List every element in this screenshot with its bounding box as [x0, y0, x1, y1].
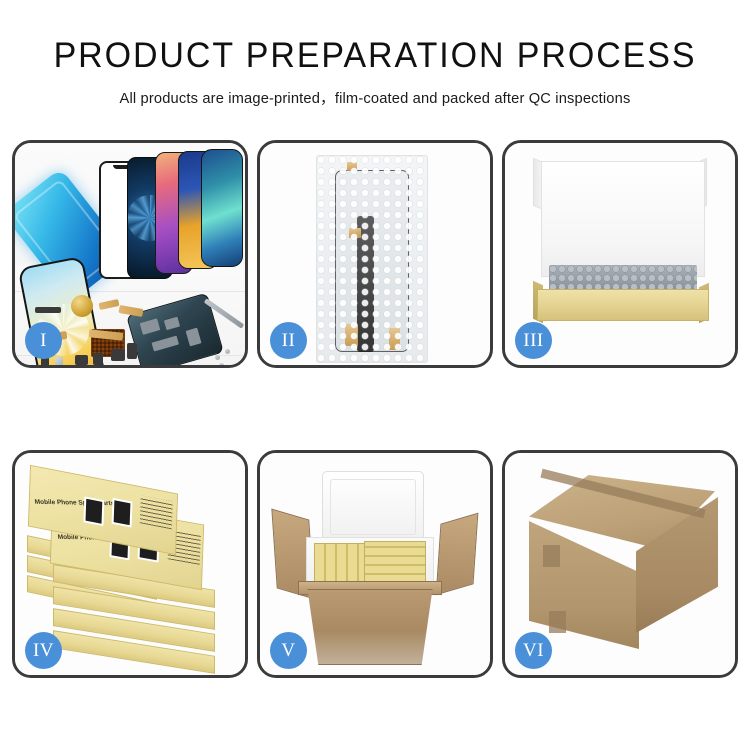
step-panel-2: II: [257, 140, 493, 368]
tape-piece: [347, 162, 357, 171]
step-badge-4: IV: [25, 632, 62, 669]
tape-piece: [349, 228, 361, 238]
box-spec-lines: [140, 495, 173, 529]
step-panel-5: V: [257, 450, 493, 678]
product-preparation-infographic: PRODUCT PREPARATION PROCESS All products…: [0, 0, 750, 750]
step-badge-5: V: [270, 632, 307, 669]
earpiece-mesh-part: [35, 307, 61, 313]
box-white-lid: [541, 161, 705, 277]
tape-piece: [389, 328, 400, 350]
board-chip: [140, 318, 161, 334]
box-kraft-base: [537, 289, 709, 321]
step-panel-1: I: [12, 140, 248, 368]
board-chip: [186, 328, 202, 347]
metal-bracket-part: [55, 357, 63, 365]
wrapped-flex-cable: [357, 216, 374, 352]
page-subtitle: All products are image-printed，film-coat…: [8, 87, 743, 108]
speaker-part: [71, 295, 93, 317]
step-panel-3: III: [502, 140, 738, 368]
carton-tape-patch: [549, 611, 566, 633]
bubble-wrap-bag: [316, 155, 428, 363]
screw-part: [219, 363, 224, 365]
step-panel-6: VI: [502, 450, 738, 678]
screw-part: [225, 349, 230, 354]
box-product-image: [83, 496, 104, 526]
carton-flap-right: [436, 513, 479, 596]
page-title: PRODUCT PREPARATION PROCESS: [11, 38, 739, 75]
teal-gradient-phone: [201, 149, 243, 267]
tape-piece: [345, 324, 358, 346]
step-badge-3: III: [515, 322, 552, 359]
board-chip: [152, 336, 179, 352]
small-component: [127, 343, 137, 359]
step-panel-4: Mobile Phone Spare Parts Mobile Phone Sp…: [12, 450, 248, 678]
carton-tape-patch: [543, 545, 560, 567]
process-steps-grid: I II: [12, 140, 738, 678]
step-badge-1: I: [25, 322, 62, 359]
small-component: [111, 349, 125, 361]
step-badge-6: VI: [515, 632, 552, 669]
wrapped-screen-assembly: [335, 170, 409, 352]
small-component: [75, 355, 88, 365]
board-chip: [164, 317, 180, 330]
header: PRODUCT PREPARATION PROCESS All products…: [0, 38, 750, 108]
screw-part: [215, 355, 220, 360]
styrofoam-lid: [322, 471, 424, 543]
carton-front-face: [302, 589, 438, 665]
small-component: [93, 353, 103, 365]
box-product-image: [112, 498, 133, 528]
yellow-boxes-row-right: [364, 541, 426, 583]
step-badge-2: II: [270, 322, 307, 359]
